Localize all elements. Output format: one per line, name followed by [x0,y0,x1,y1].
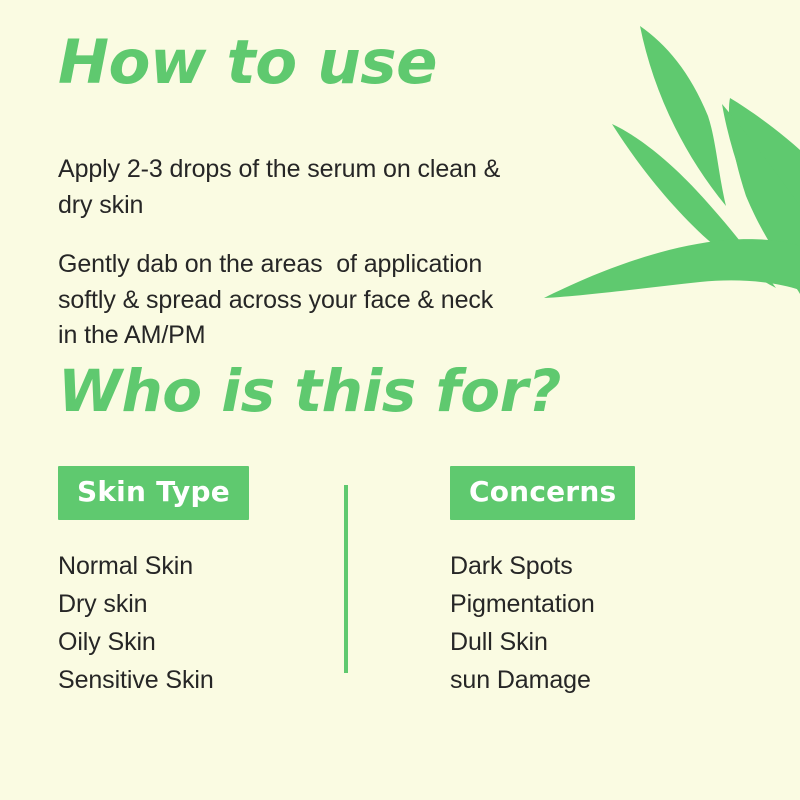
how-to-use-step-2: Gently dab on the areas of application s… [58,247,578,354]
skin-type-column: Skin Type Normal Skin Dry skin Oily Skin… [58,466,328,699]
list-item: Dry skin [58,585,328,623]
concerns-badge: Concerns [450,466,635,520]
how-to-use-step-1: Apply 2-3 drops of the serum on clean & … [58,152,578,223]
list-item: Dark Spots [450,547,750,585]
who-is-this-for-heading: Who is this for? [58,362,561,420]
concerns-column: Concerns Dark Spots Pigmentation Dull Sk… [450,466,750,699]
leaf-illustration-icon [540,0,800,380]
skin-type-badge: Skin Type [58,466,249,520]
column-divider [344,485,348,673]
promo-poster: How to use Apply 2-3 drops of the serum … [0,0,800,800]
audience-section: Skin Type Normal Skin Dry skin Oily Skin… [0,466,800,706]
how-to-use-heading: How to use [58,32,437,93]
concerns-list: Dark Spots Pigmentation Dull Skin sun Da… [450,547,750,699]
list-item: Pigmentation [450,585,750,623]
skin-type-list: Normal Skin Dry skin Oily Skin Sensitive… [58,547,328,699]
list-item: Oily Skin [58,623,328,661]
list-item: sun Damage [450,661,750,699]
list-item: Normal Skin [58,547,328,585]
list-item: Dull Skin [450,623,750,661]
list-item: Sensitive Skin [58,661,328,699]
